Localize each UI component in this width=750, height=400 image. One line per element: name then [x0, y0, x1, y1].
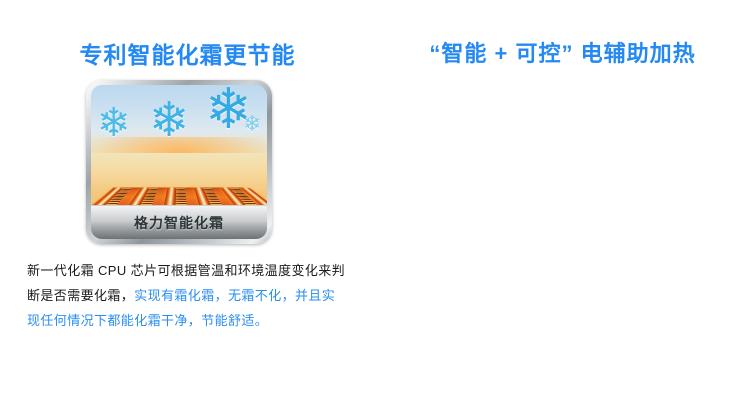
- coil-glow: [91, 137, 267, 153]
- left-panel-caption-plate: 格力智能化霜: [91, 205, 267, 239]
- left-illustration-panel: ❄ ❄ ❄ ❄: [86, 80, 272, 244]
- right-feature-heading: “智能 + 可控” 电辅助加热: [375, 36, 750, 68]
- feature-column-aux-heating: “智能 + 可控” 电辅助加热: [375, 0, 750, 400]
- left-illustration-scene: ❄ ❄ ❄ ❄: [91, 85, 267, 239]
- promo-page: 专利智能化霜更节能 ❄ ❄ ❄ ❄: [0, 0, 750, 400]
- heat-coil-icon: [91, 137, 267, 215]
- snowflake-icon: ❄: [243, 113, 261, 135]
- left-panel-caption-text: 格力智能化霜: [134, 213, 224, 233]
- left-feature-heading: 专利智能化霜更节能: [0, 36, 375, 70]
- left-body-text: 新一代化霜 CPU 芯片可根据管温和环境温度变化来判断是否需要化霜，实现有霜化霜…: [27, 258, 347, 333]
- feature-column-defrost: 专利智能化霜更节能 ❄ ❄ ❄ ❄: [0, 0, 375, 400]
